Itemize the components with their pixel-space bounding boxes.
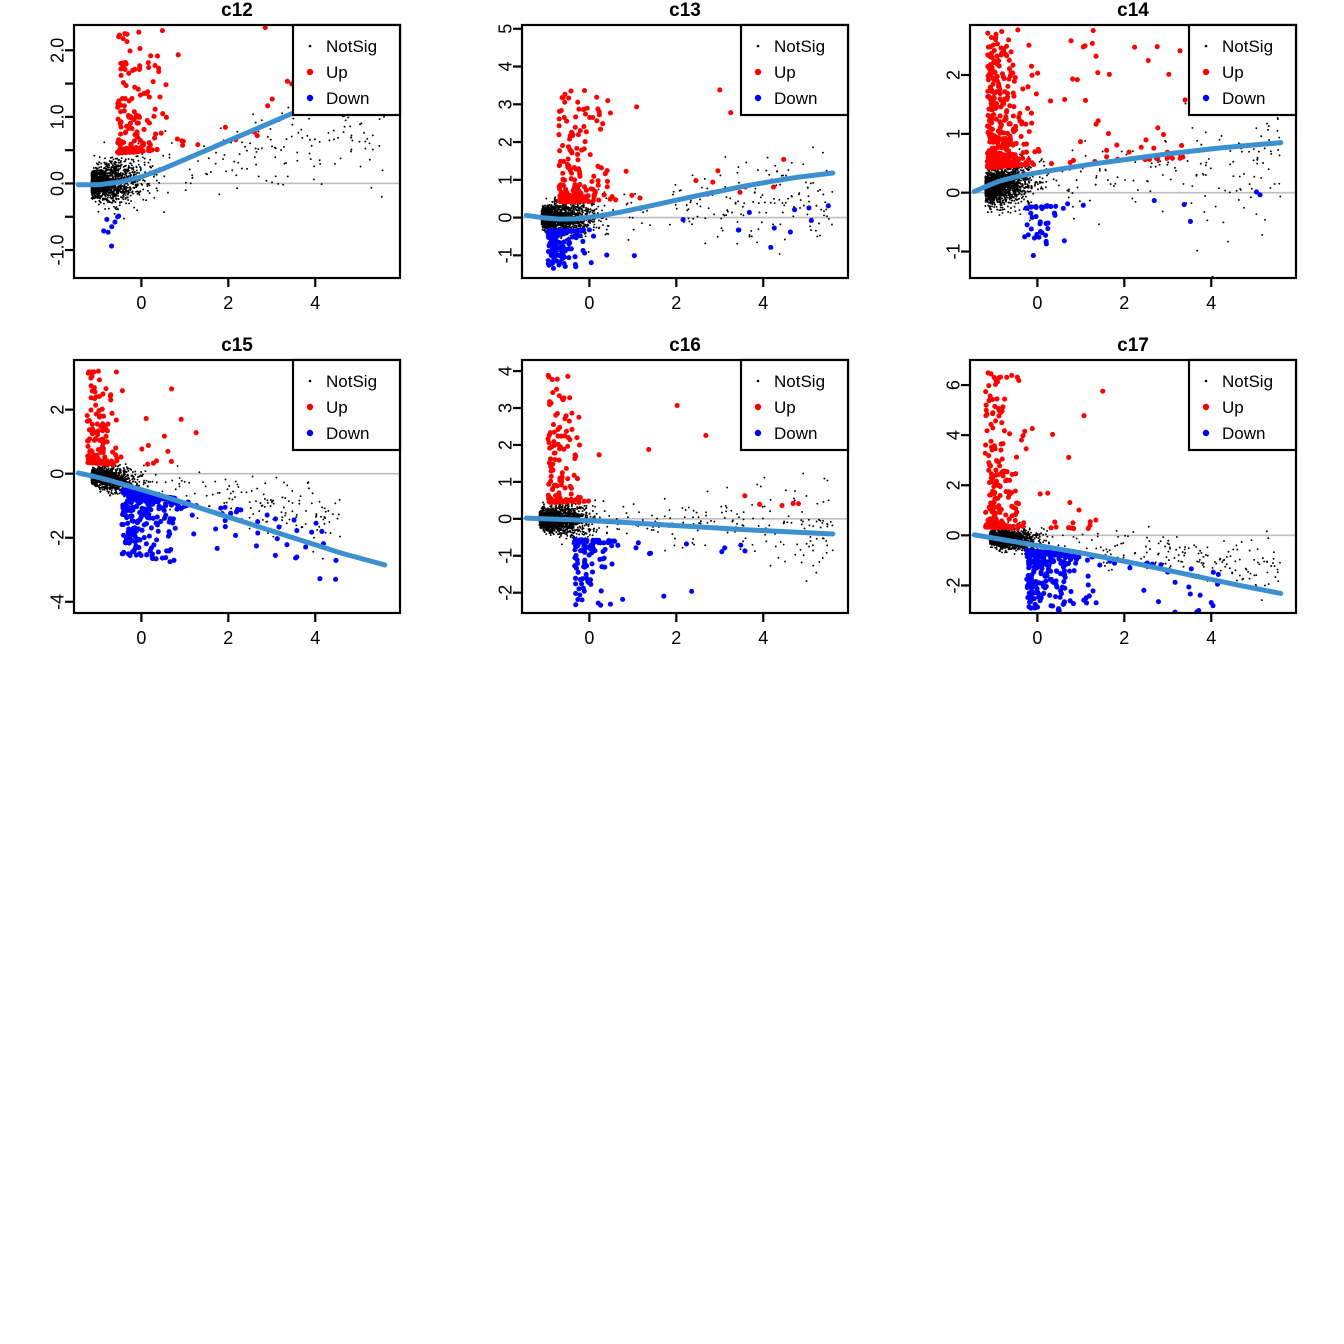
y-tick-label: -1.0 (48, 235, 68, 266)
legend-label-up: Up (774, 398, 796, 417)
legend-marker-down (307, 95, 313, 101)
legend-marker-up (1203, 69, 1209, 75)
x-tick-label: 4 (310, 628, 320, 648)
series-up (85, 369, 199, 467)
y-tick-label: 0 (496, 514, 516, 524)
y-tick-label: 2.0 (48, 38, 68, 63)
y-tick-label: -2 (496, 585, 516, 601)
legend-marker-up (755, 69, 761, 75)
y-tick-label: 5 (496, 24, 516, 34)
legend-marker-notsig (1205, 380, 1208, 383)
smear-plot-panel-c16: c16-2-101234024NotSigUpDown (448, 335, 896, 670)
x-axis: 024 (1032, 613, 1216, 648)
y-tick-label: 0.0 (48, 171, 68, 196)
y-tick-label: 1.0 (48, 104, 68, 129)
y-tick-label: 0 (944, 188, 964, 198)
legend-marker-down (1203, 95, 1209, 101)
panel-canvas-c12: c12-1.00.01.02.0024NotSigUpDown (0, 0, 448, 335)
x-tick-label: 0 (136, 293, 146, 313)
legend-label-notsig: NotSig (774, 37, 825, 56)
legend-marker-notsig (757, 380, 760, 383)
x-axis: 024 (136, 278, 320, 313)
legend: NotSigUpDown (741, 360, 848, 450)
y-axis: -1012 (944, 70, 970, 260)
panel-canvas-c15: c15-4-202024NotSigUpDown (0, 335, 448, 670)
y-tick-label: -1 (496, 548, 516, 564)
legend-label-up: Up (774, 63, 796, 82)
legend-label-notsig: NotSig (1222, 37, 1273, 56)
legend: NotSigUpDown (741, 25, 848, 115)
y-tick-label: -4 (48, 594, 68, 610)
legend-label-down: Down (1222, 424, 1265, 443)
y-tick-label: 4 (496, 366, 516, 376)
x-tick-label: 4 (1206, 293, 1216, 313)
legend-label-notsig: NotSig (326, 372, 377, 391)
x-tick-label: 4 (1206, 628, 1216, 648)
y-tick-label: 4 (496, 62, 516, 72)
legend-marker-up (1203, 404, 1209, 410)
legend-label-down: Down (326, 424, 369, 443)
legend-marker-notsig (309, 380, 312, 383)
legend-marker-down (1203, 430, 1209, 436)
smear-plot-panel-c17: c17-20246024NotSigUpDown (896, 335, 1344, 670)
x-tick-label: 4 (310, 293, 320, 313)
series-down (572, 537, 748, 607)
y-tick-label: 1 (496, 477, 516, 487)
legend: NotSigUpDown (293, 25, 400, 115)
series-up (115, 25, 312, 156)
y-tick-label: -2 (48, 530, 68, 546)
legend-marker-down (755, 95, 761, 101)
series-down (1022, 189, 1262, 258)
y-tick-label: 3 (496, 403, 516, 413)
smear-plot-panel-c13: c13-1012345024NotSigUpDown (448, 0, 896, 335)
legend-marker-up (307, 404, 313, 410)
x-tick-label: 2 (1119, 628, 1129, 648)
y-tick-label: -2 (944, 577, 964, 593)
x-tick-label: 0 (136, 628, 146, 648)
legend-marker-notsig (757, 45, 760, 48)
y-tick-label: 0 (944, 530, 964, 540)
panel-title: c15 (221, 335, 253, 356)
panel-canvas-c14: c14-1012024NotSigUpDown (896, 0, 1344, 335)
y-tick-label: 0 (496, 213, 516, 223)
legend-label-up: Up (1222, 63, 1244, 82)
legend: NotSigUpDown (1189, 25, 1296, 115)
panel-canvas-c13: c13-1012345024NotSigUpDown (448, 0, 896, 335)
series-down (119, 487, 338, 581)
y-tick-label: 2 (944, 480, 964, 490)
series-up (985, 27, 1188, 170)
y-axis: -20246 (944, 380, 970, 593)
panel-title: c14 (1117, 0, 1149, 21)
series-up (983, 370, 1106, 531)
y-axis: -2-101234 (496, 366, 522, 601)
y-tick-label: 2 (944, 70, 964, 80)
y-tick-label: 4 (944, 430, 964, 440)
legend-label-down: Down (1222, 89, 1265, 108)
legend-marker-up (755, 404, 761, 410)
legend-marker-notsig (309, 45, 312, 48)
y-tick-label: 1 (944, 129, 964, 139)
x-tick-label: 0 (1032, 628, 1042, 648)
legend-label-up: Up (1222, 398, 1244, 417)
series-down (546, 203, 831, 271)
legend-label-notsig: NotSig (326, 37, 377, 56)
smear-plot-panel-c14: c14-1012024NotSigUpDown (896, 0, 1344, 335)
legend: NotSigUpDown (293, 360, 400, 450)
smear-plot-panel-c15: c15-4-202024NotSigUpDown (0, 335, 448, 670)
x-axis: 024 (1032, 278, 1216, 313)
x-tick-label: 0 (1032, 293, 1042, 313)
y-tick-label: 0 (48, 469, 68, 479)
y-tick-label: 2 (496, 137, 516, 147)
y-tick-label: 1 (496, 175, 516, 185)
series-down (101, 214, 121, 249)
legend-label-down: Down (326, 89, 369, 108)
y-tick-label: -1 (496, 247, 516, 263)
x-axis: 024 (584, 278, 768, 313)
y-axis: -1.00.01.02.0 (48, 38, 74, 266)
y-tick-label: 2 (496, 440, 516, 450)
x-tick-label: 2 (671, 293, 681, 313)
x-axis: 024 (584, 613, 768, 648)
legend: NotSigUpDown (1189, 360, 1296, 450)
x-tick-label: 4 (758, 628, 768, 648)
panel-title: c17 (1117, 335, 1149, 356)
panel-title: c13 (669, 0, 701, 21)
legend-label-down: Down (774, 89, 817, 108)
x-tick-label: 2 (223, 293, 233, 313)
blank-area (0, 670, 1344, 1344)
panel-title: c12 (221, 0, 253, 21)
panel-canvas-c16: c16-2-101234024NotSigUpDown (448, 335, 896, 670)
panel-canvas-c17: c17-20246024NotSigUpDown (896, 335, 1344, 670)
x-tick-label: 0 (584, 293, 594, 313)
legend-label-notsig: NotSig (1222, 372, 1273, 391)
legend-label-notsig: NotSig (774, 372, 825, 391)
legend-marker-notsig (1205, 45, 1208, 48)
y-axis: -4-202 (48, 405, 74, 610)
x-tick-label: 2 (671, 628, 681, 648)
legend-marker-down (755, 430, 761, 436)
x-axis: 024 (136, 613, 320, 648)
legend-label-up: Up (326, 63, 348, 82)
smear-plot-panel-c12: c12-1.00.01.02.0024NotSigUpDown (0, 0, 448, 335)
legend-marker-up (307, 69, 313, 75)
y-tick-label: 2 (48, 405, 68, 415)
y-tick-label: 3 (496, 99, 516, 109)
y-tick-label: 6 (944, 380, 964, 390)
x-tick-label: 2 (223, 628, 233, 648)
x-tick-label: 0 (584, 628, 594, 648)
panel-title: c16 (669, 335, 701, 356)
legend-label-down: Down (774, 424, 817, 443)
y-axis: -1012345 (496, 24, 522, 264)
series-down (1024, 548, 1221, 615)
plot-grid: c12-1.00.01.02.0024NotSigUpDownc13-10123… (0, 0, 1344, 670)
x-tick-label: 4 (758, 293, 768, 313)
y-tick-label: -1 (944, 244, 964, 260)
legend-label-up: Up (326, 398, 348, 417)
legend-marker-down (307, 430, 313, 436)
trend-line (974, 535, 1280, 594)
x-tick-label: 2 (1119, 293, 1129, 313)
